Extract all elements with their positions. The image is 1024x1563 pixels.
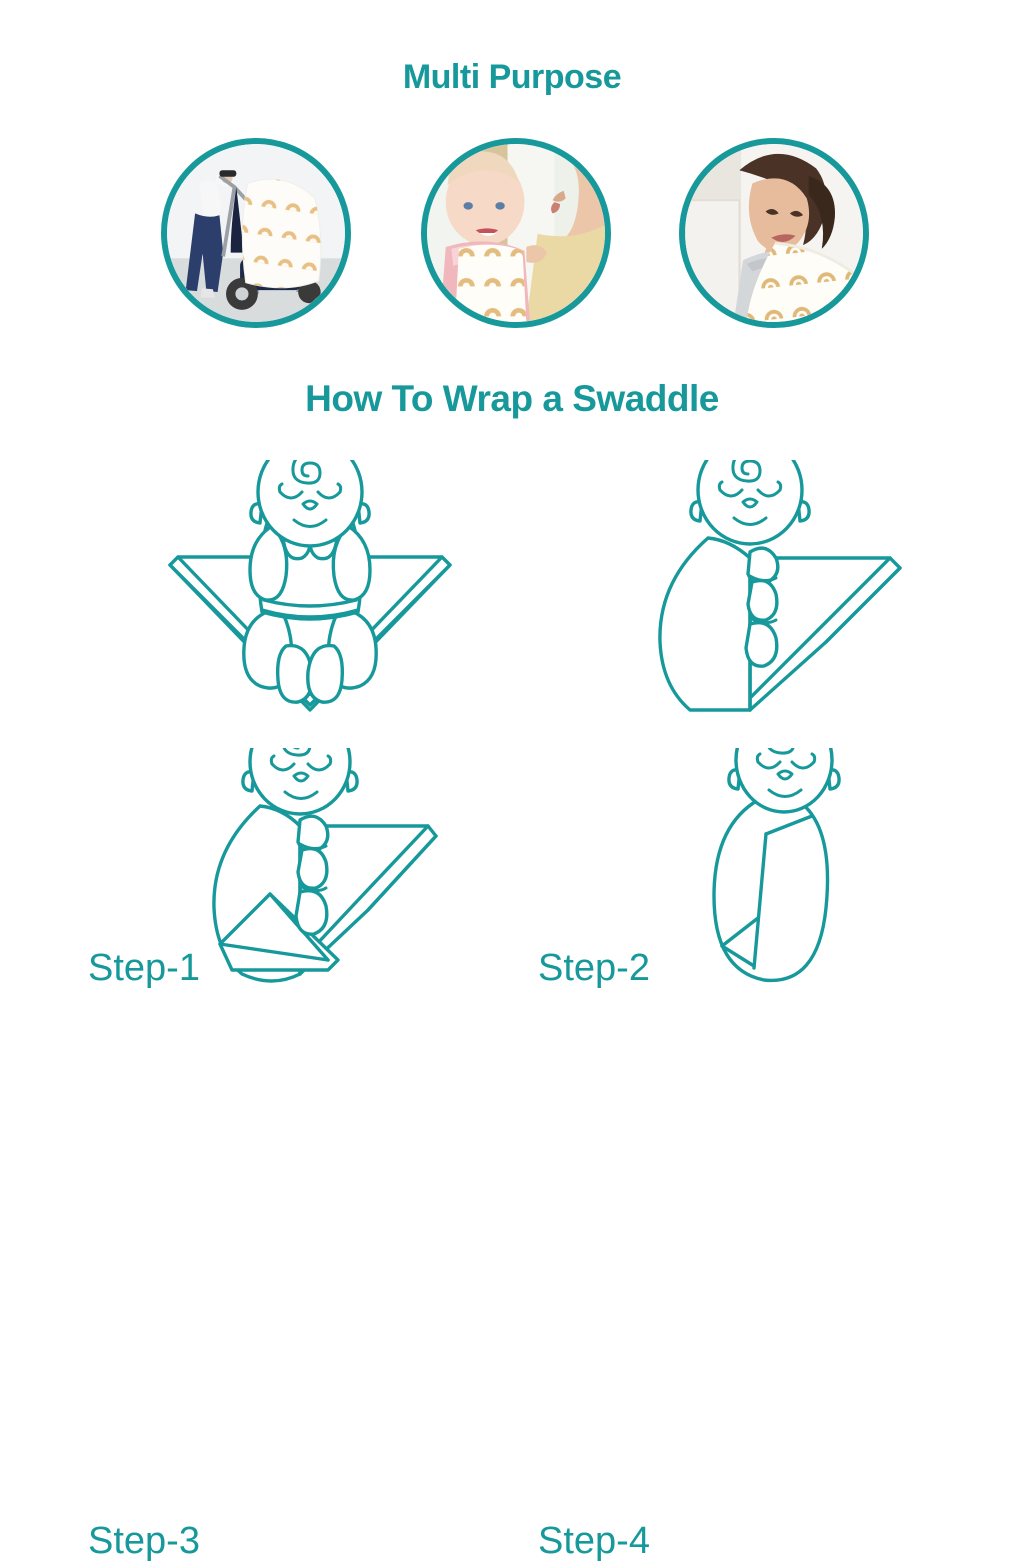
burp-cloth-photo	[421, 138, 611, 328]
step-2-illustration	[600, 460, 940, 750]
step-3: Step-3	[0, 748, 512, 1028]
step-3-illustration	[160, 748, 490, 1028]
step-2: Step-2	[512, 460, 1024, 750]
step-1: Step-1	[0, 460, 512, 750]
swaddle-infographic: Multi Purpose	[0, 0, 1024, 1024]
nursing-cover-photo	[679, 138, 869, 328]
burp-cloth-image	[427, 144, 605, 322]
multi-purpose-heading: Multi Purpose	[0, 58, 1024, 97]
how-to-wrap-heading: How To Wrap a Swaddle	[0, 378, 1024, 420]
photo-row	[0, 138, 1024, 334]
stroller-cover-photo	[161, 138, 351, 328]
step-1-illustration	[150, 460, 470, 750]
stroller-cover-image	[167, 144, 345, 322]
step-4-illustration	[662, 748, 962, 1028]
nursing-cover-image	[685, 144, 863, 322]
step-4: Step-4	[512, 748, 1024, 1028]
step-4-label: Step-4	[538, 1520, 650, 1563]
step-3-label: Step-3	[88, 1520, 200, 1563]
